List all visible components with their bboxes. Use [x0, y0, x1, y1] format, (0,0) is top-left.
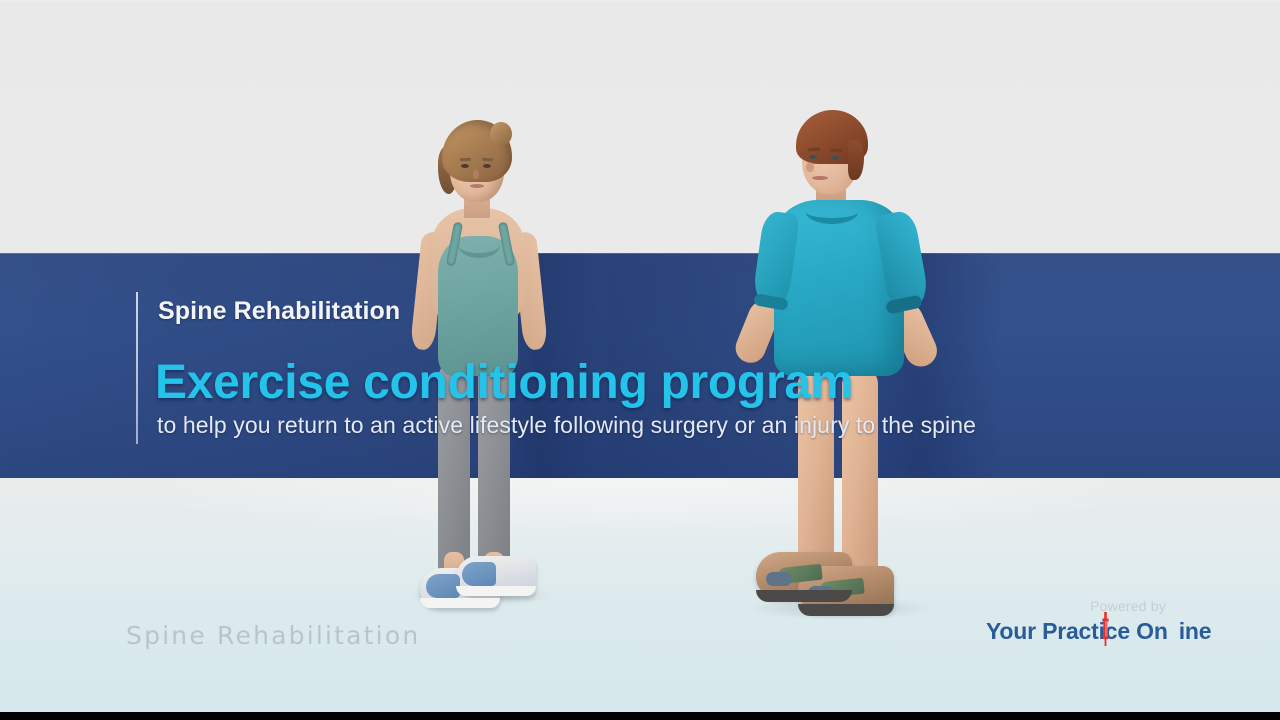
- male-shoe-left-sole: [756, 590, 852, 602]
- brand-logo[interactable]: Powered by Your Practice Onine: [986, 598, 1166, 646]
- male-eyebrow-right: [830, 149, 842, 153]
- male-tshirt-collar: [806, 200, 858, 224]
- brand-text-before-icon: Your Practice On: [986, 618, 1168, 644]
- brand-wordmark: Your Practice Onine: [986, 618, 1211, 645]
- male-hair-sideburn: [848, 140, 864, 180]
- syringe-icon: [1101, 612, 1110, 646]
- banner-kicker: Spine Rehabilitation: [158, 297, 400, 326]
- letterbox-bar: [0, 712, 1280, 720]
- female-mouth: [470, 184, 484, 188]
- female-shoe-right-sole: [456, 586, 536, 596]
- male-nose: [806, 162, 814, 172]
- floor-sheen: [0, 470, 1280, 590]
- female-shoe-left-panel: [426, 574, 460, 598]
- female-nose: [473, 170, 479, 179]
- vertical-accent-rule: [136, 292, 138, 444]
- top-edge-highlight: [0, 0, 1280, 2]
- video-frame: Spine Rehabilitation Exercise conditioni…: [0, 0, 1280, 720]
- female-eye-left: [461, 164, 469, 168]
- male-eye-right: [831, 156, 839, 160]
- brand-text-after-icon: ine: [1179, 618, 1212, 644]
- program-watermark: Spine Rehabilitation: [126, 621, 420, 650]
- banner-subhead: to help you return to an active lifestyl…: [157, 412, 976, 439]
- female-eye-right: [483, 164, 491, 168]
- female-shoe-left-sole: [420, 598, 500, 608]
- male-eye-left: [809, 155, 817, 159]
- banner-headline: Exercise conditioning program: [155, 355, 853, 410]
- male-shoe-left-panel: [766, 572, 792, 586]
- female-shoe-right-panel: [462, 562, 496, 586]
- female-tank-neckline: [458, 232, 500, 258]
- male-mouth: [812, 176, 828, 180]
- male-shoe-right-sole: [798, 604, 894, 616]
- female-hair-bun: [490, 122, 512, 146]
